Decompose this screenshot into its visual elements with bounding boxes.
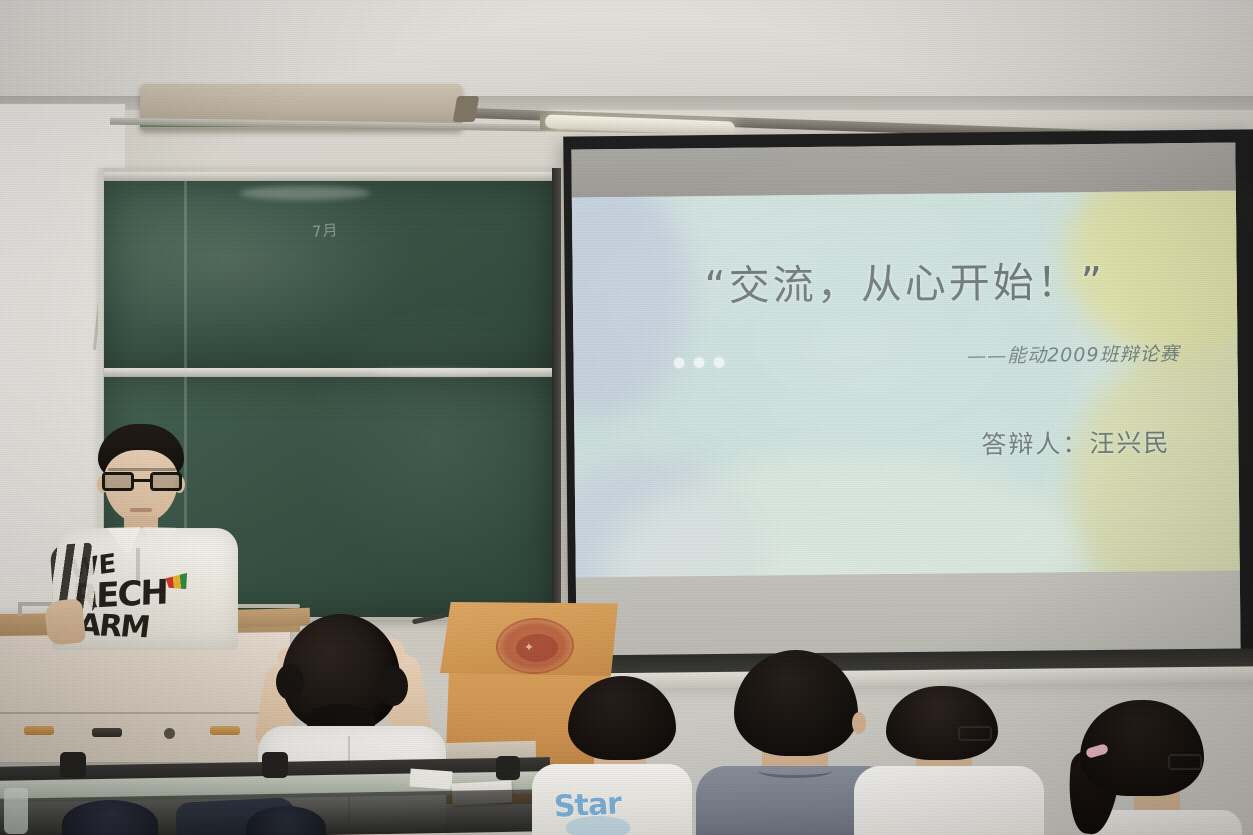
glasses-icon [958,726,992,741]
slide-title: “交流，从心开始！” [572,247,1237,314]
audience-student-white-tee [860,686,1040,835]
slide-subtitle: ——能动2009班辩论赛 [967,339,1180,368]
screen-letterbox-top [571,143,1235,198]
university-seal-emblem: ✦ [495,617,575,676]
student-hair [734,650,858,756]
screen-case-bracket [453,96,480,122]
student-hair [886,686,998,760]
desk-drawer-handle [92,728,122,737]
student-hair [568,676,676,760]
slide-content: “交流，从心开始！” ——能动2009班辩论赛 答辩人：汪兴民 [572,191,1240,578]
slide-dot [694,357,705,368]
bench-clip [496,756,520,780]
slide-decorative-dots [674,357,725,369]
woman-hair-curl [378,666,408,706]
presenter-arm-left [44,598,86,646]
presenter-mouth [130,508,152,512]
audience-girl-ponytail [1052,700,1242,835]
glasses-icon [102,472,182,491]
presenter-person: WE RECH ARM [46,424,242,639]
girl-white-top [1092,810,1242,835]
chalk-smudge-secondary [372,368,492,376]
desk-drawer-handle [24,726,54,735]
shirt-graphic-line-3: ARM [76,611,150,643]
seal-glyph-icon: ✦ [524,640,535,654]
glasses-bridge [134,479,150,482]
bench-clip [60,752,86,778]
chalk-writing: 7月 [311,219,339,242]
chalkboard-right-edge [552,168,561,623]
student-tee-collar [758,764,832,778]
seal-inner-ring [516,633,559,662]
woman-hair-curl [276,664,304,700]
desk-drawer-seam [0,712,290,714]
presenter-brow [108,468,176,471]
desk-rail-post [18,602,22,616]
glasses-lens-right [150,472,182,491]
chalk-smudge [240,186,370,200]
student-white-tee [854,766,1044,835]
slide-presenter-line: 答辩人：汪兴民 [981,423,1170,461]
desk-drawer-handle [210,726,240,735]
bench-clip [262,752,288,778]
tee-graphic-text: Star [553,786,622,824]
classroom-photo: 7月 “交流，从心开始！” ——能动2009班辩论赛 答辩人：汪兴民 [0,0,1253,835]
podium-top: ✦ [440,602,618,676]
chalkboard-top-rail [104,172,552,181]
screen-letterbox-bottom [576,571,1241,662]
audience-student-star-tee: Star [532,676,692,835]
glasses-icon [1168,754,1202,770]
chalkboard-panel-upper [104,181,552,368]
presentation-slide: “交流，从心开始！” ——能动2009班辩论赛 答辩人：汪兴民 [572,191,1240,578]
loose-paper [409,769,452,790]
water-bottle [4,788,28,834]
projection-screen-surface: “交流，从心开始！” ——能动2009班辩论赛 答辩人：汪兴民 [571,143,1240,662]
slide-dot [714,357,725,368]
glasses-lens-left [102,472,134,491]
desk-lock-knob [164,728,175,739]
slide-dot [674,357,685,368]
